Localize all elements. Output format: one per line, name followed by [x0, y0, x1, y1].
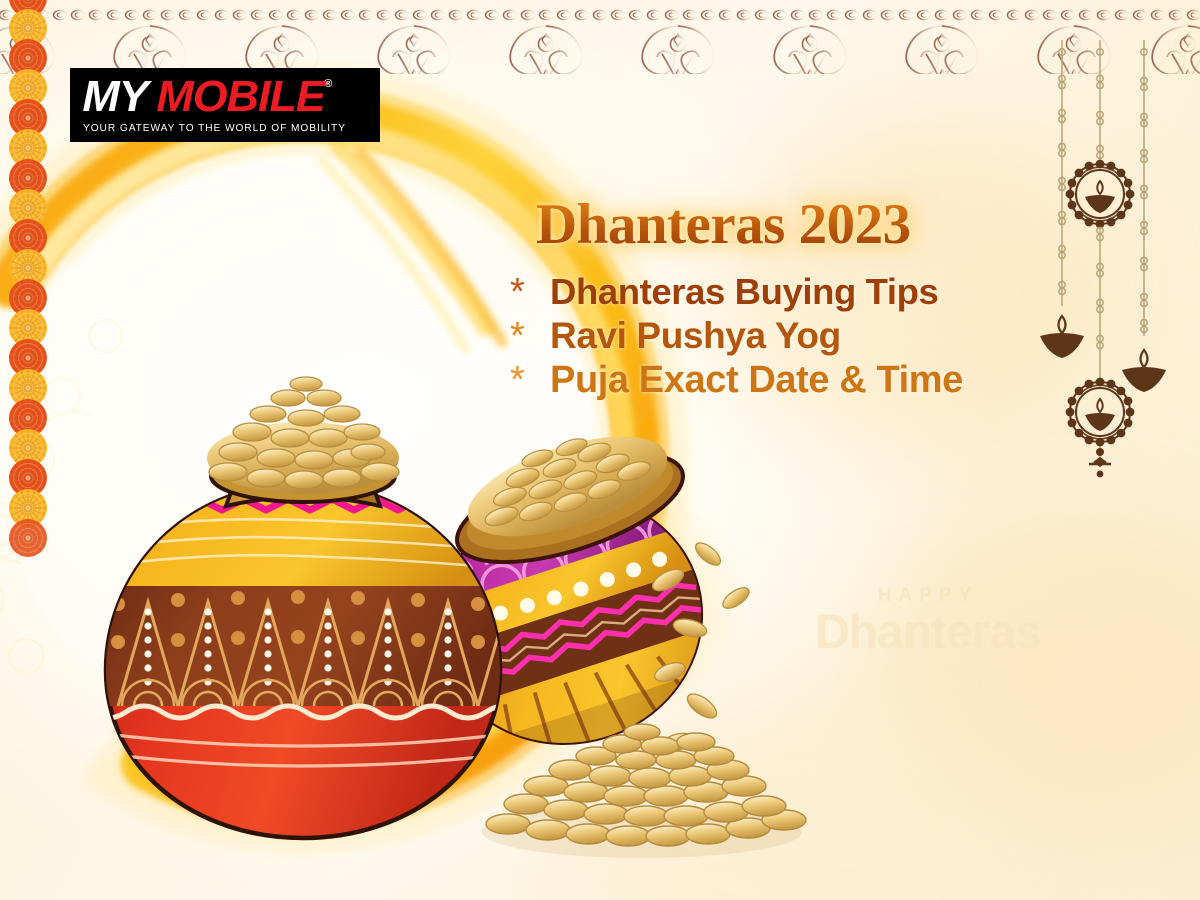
asterisk-bullet-icon: *: [510, 314, 550, 358]
marigold-garland-icon: [0, 0, 76, 575]
page-title: Dhanteras 2023: [536, 196, 1090, 254]
list-item: * Puja Exact Date & Time: [510, 358, 1090, 402]
list-item-label: Ravi Pushya Yog: [550, 315, 841, 358]
asterisk-bullet-icon: *: [510, 270, 550, 314]
ornate-paisley-border-icon: [0, 0, 1200, 74]
registered-trademark-icon: ®: [324, 79, 332, 89]
my-mobile-logo[interactable]: MY MOBILE ® YOUR GATEWAY TO THE WORLD OF…: [70, 68, 380, 142]
background-watermark: HAPPY Dhanteras: [748, 586, 1108, 658]
watermark-line-2: Dhanteras: [748, 608, 1108, 658]
logo-word-my: MY: [82, 77, 147, 117]
logo-tagline: YOUR GATEWAY TO THE WORLD OF MOBILITY: [83, 123, 369, 134]
dhanteras-poster: HAPPY Dhanteras: [0, 0, 1200, 900]
golden-ring-swoosh-icon: [0, 60, 710, 890]
topic-list: * Dhanteras Buying Tips * Ravi Pushya Yo…: [510, 270, 1090, 402]
watermark-line-1: HAPPY: [748, 586, 1108, 605]
headline-block: Dhanteras 2023 * Dhanteras Buying Tips *…: [510, 196, 1090, 402]
logo-wordmark: MY MOBILE ®: [83, 77, 369, 117]
gold-coin-pots-icon: [30, 330, 850, 890]
list-item: * Ravi Pushya Yog: [510, 314, 1090, 358]
background-glow-2: [880, 520, 1200, 820]
background-glow-3: [560, 700, 1020, 900]
list-item-label: Dhanteras Buying Tips: [550, 271, 938, 313]
asterisk-bullet-icon: *: [510, 358, 550, 402]
list-item: * Dhanteras Buying Tips: [510, 270, 1090, 314]
logo-word-mobile: MOBILE: [156, 77, 324, 117]
list-item-label: Puja Exact Date & Time: [550, 358, 963, 402]
